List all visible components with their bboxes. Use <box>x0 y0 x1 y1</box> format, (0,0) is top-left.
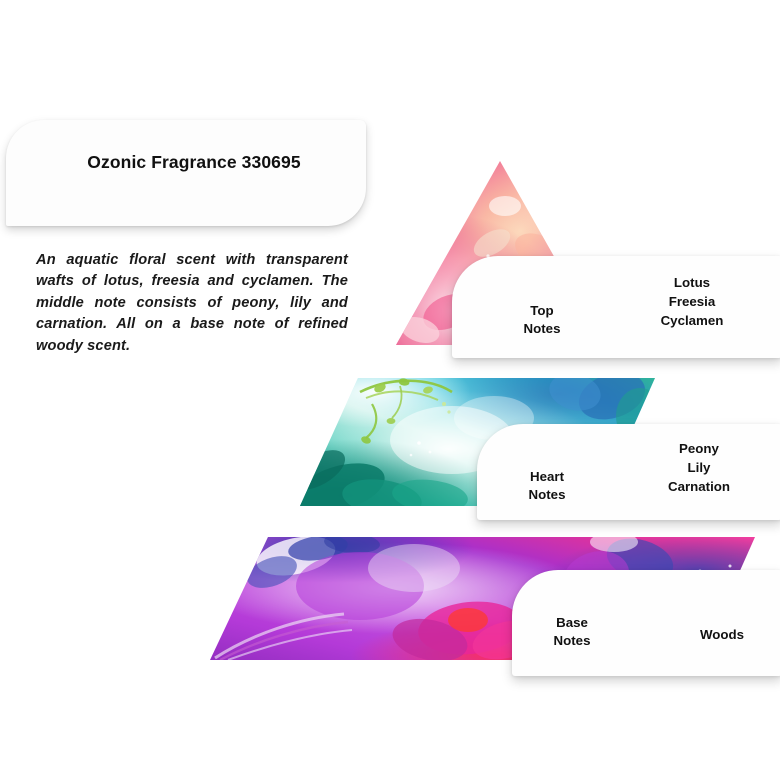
top-notes-values: Lotus Freesia Cyclamen <box>602 274 780 331</box>
top-notes-label: Top Notes <box>496 302 588 337</box>
heart-notes-label: Heart Notes <box>501 468 593 503</box>
heart-notes-values: Peony Lily Carnation <box>609 440 780 497</box>
top-notes-card: Top Notes Lotus Freesia Cyclamen <box>452 256 780 358</box>
heart-notes-card: Heart Notes Peony Lily Carnation <box>477 424 780 520</box>
product-title-card: Ozonic Fragrance 330695 <box>6 120 366 226</box>
base-notes-values: Woods <box>632 626 780 645</box>
page-title: Ozonic Fragrance 330695 <box>6 152 366 173</box>
base-notes-label: Base Notes <box>526 614 618 649</box>
product-description: An aquatic floral scent with transparent… <box>36 250 348 357</box>
base-notes-card: Base Notes Woods <box>512 570 780 676</box>
fragrance-pyramid-infographic: Ozonic Fragrance 330695 An aquatic flora… <box>0 0 780 780</box>
